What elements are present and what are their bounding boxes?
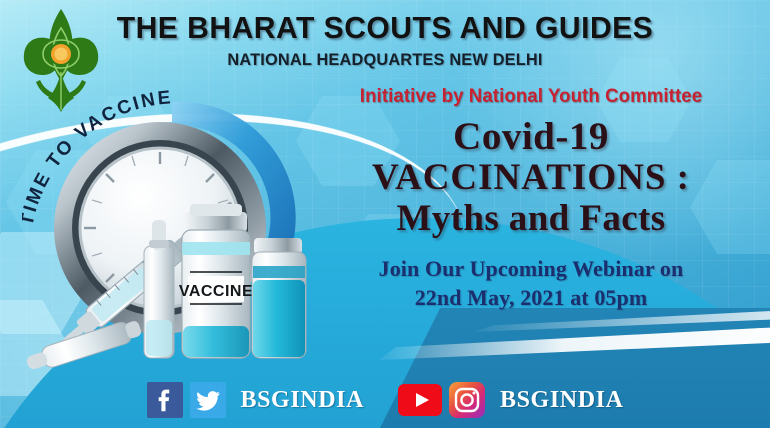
youtube-icon[interactable] — [398, 384, 442, 416]
scout-fleur-de-lis-emblem-icon — [18, 6, 104, 114]
webinar-line-2: 22nd May, 2021 at 05pm — [300, 283, 762, 312]
organization-title: THE BHARAT SCOUTS AND GUIDES — [12, 0, 759, 46]
youtube-instagram-group: BSGINDIA — [398, 382, 624, 418]
heading-line-covid: Covid-19 — [300, 117, 762, 158]
promo-text-block: Initiative by National Youth Committee C… — [300, 86, 762, 312]
heading-line-myths-and-facts: Myths and Facts — [300, 200, 762, 239]
webinar-line-1: Join Our Upcoming Webinar on — [379, 256, 684, 281]
social-media-bar: BSGINDIA BSGINDIA — [0, 372, 770, 428]
poster-canvas: THE BHARAT SCOUTS AND GUIDES NATIONAL HE… — [0, 0, 770, 428]
organization-subtitle: NATIONAL HEADQUARTES NEW DELHI — [15, 50, 754, 70]
facebook-twitter-group: BSGINDIA — [147, 382, 399, 418]
initiative-line: Initiative by National Youth Committee — [305, 86, 758, 108]
instagram-icon[interactable] — [449, 382, 485, 418]
youtube-instagram-handle: BSGINDIA — [500, 387, 624, 414]
webinar-info: Join Our Upcoming Webinar on 22nd May, 2… — [300, 254, 762, 312]
facebook-twitter-handle: BSGINDIA — [241, 387, 365, 414]
poster-header: THE BHARAT SCOUTS AND GUIDES NATIONAL HE… — [0, 0, 770, 70]
vial-label-text: VACCINE — [179, 283, 253, 300]
heading-line-vaccinations: VACCINATIONS : — [300, 159, 762, 198]
facebook-icon[interactable] — [147, 382, 183, 418]
twitter-icon[interactable] — [190, 382, 226, 418]
